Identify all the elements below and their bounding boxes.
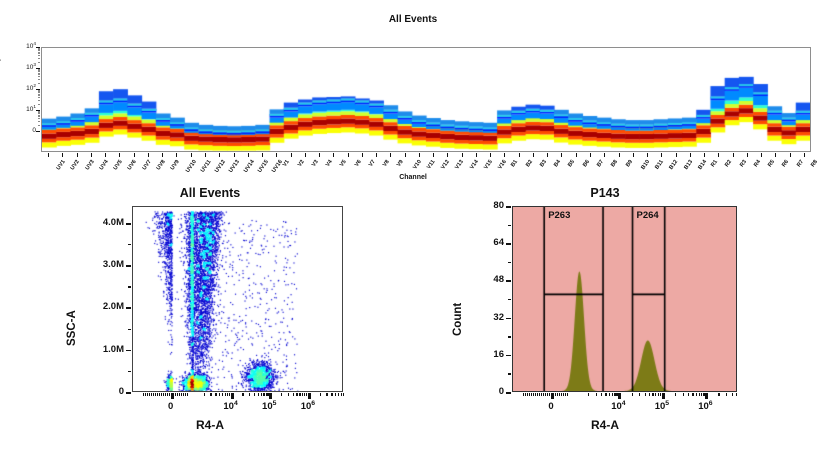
scatter-x-minor-tick	[263, 393, 264, 396]
histogram-y-tick-label: 80	[466, 200, 504, 211]
gate-label-p264[interactable]: P264	[637, 210, 659, 221]
ribbon-y-minor-tick	[38, 91, 40, 92]
ribbon-y-minor-tick	[38, 112, 40, 113]
histogram-x-minor-tick	[645, 393, 646, 396]
scatter-x-tick	[308, 393, 311, 399]
histogram-x-minor-tick	[616, 393, 617, 396]
histogram-x-minor-tick	[649, 393, 650, 396]
histogram-x-minor-tick	[609, 393, 610, 396]
ribbon-channel-label: UV11	[200, 159, 213, 174]
histogram-y-tick-label: 16	[466, 349, 504, 360]
scatter-x-minor-tick	[222, 393, 223, 396]
ribbon-y-minor-tick	[38, 113, 40, 114]
ribbon-y-minor-tick	[38, 115, 40, 116]
ribbon-channel-tick	[490, 153, 491, 157]
ribbon-y-minor-tick	[38, 111, 40, 112]
ribbon-y-minor-tick	[38, 121, 40, 122]
ribbon-density-canvas	[42, 48, 810, 151]
scatter-y-tick	[126, 265, 131, 267]
scatter-plot-title: All Events	[60, 186, 360, 200]
histogram-x-minor-tick	[658, 393, 659, 396]
spectra-ribbon-panel: All Events Intensity 1041031021010 UV1UV…	[0, 14, 826, 180]
scatter-x-minor-tick	[338, 393, 339, 396]
ribbon-channel-label: UV13	[228, 159, 241, 174]
ribbon-channel-tick	[633, 153, 634, 157]
scatter-y-tick-label: 2.0M	[78, 301, 124, 312]
ribbon-channel-tick	[390, 153, 391, 157]
scatter-y-tick	[126, 392, 131, 394]
scatter-points-canvas	[133, 207, 342, 391]
scatter-x-minor-tick	[326, 393, 327, 396]
ribbon-channel-label: B13	[683, 159, 694, 171]
ribbon-channel-label: B2	[525, 159, 534, 168]
ribbon-y-minor-tick	[38, 95, 40, 96]
histogram-x-minor-tick	[639, 393, 640, 396]
histogram-x-tick-label: 106	[685, 401, 725, 412]
ribbon-y-minor-tick	[38, 49, 40, 50]
ribbon-channel-label: V3	[311, 159, 320, 168]
ribbon-channel-tick	[733, 153, 734, 157]
ribbon-channel-tick	[619, 153, 620, 157]
histogram-x-minor-tick	[601, 393, 602, 396]
ribbon-channel-label: UV14	[242, 159, 255, 174]
ribbon-channel-label: B3	[539, 159, 548, 168]
ribbon-channel-tick	[319, 153, 320, 157]
ribbon-plot-area	[41, 47, 811, 152]
ribbon-channel-label: V14	[469, 159, 480, 171]
histogram-trace-canvas	[513, 207, 736, 391]
scatter-x-minor-tick	[242, 393, 243, 396]
histogram-x-minor-tick	[701, 393, 702, 396]
histogram-y-minor-tick	[508, 262, 511, 263]
ribbon-channel-tick	[433, 153, 434, 157]
ribbon-channel-label: V6	[353, 159, 362, 168]
scatter-plot-panel: All Events SSC-A 4.0M3.0M2.0M1.0M0 01041…	[60, 186, 360, 444]
ribbon-y-minor-tick	[38, 70, 40, 71]
ribbon-channel-label: V1	[282, 159, 291, 168]
histogram-y-minor-tick	[508, 299, 511, 300]
scatter-x-minor-tick	[258, 393, 259, 396]
histogram-x-tick-label: 105	[642, 401, 682, 412]
ribbon-channel-label: UV6	[127, 159, 138, 171]
ribbon-channel-tick	[191, 153, 192, 157]
histogram-y-tick	[506, 355, 511, 357]
ribbon-channel-label: V9	[396, 159, 405, 168]
ribbon-y-minor-tick	[38, 48, 40, 49]
ribbon-y-minor-tick	[38, 69, 40, 70]
ribbon-plot-title: All Events	[0, 14, 826, 25]
histogram-x-minor-tick	[655, 393, 656, 396]
scatter-y-tick-label: 3.0M	[78, 259, 124, 270]
histogram-x-tick-label: 104	[598, 401, 638, 412]
scatter-x-minor-tick	[281, 393, 282, 396]
scatter-x-minor-tick	[306, 393, 307, 396]
histogram-y-tick-label: 0	[466, 386, 504, 397]
ribbon-y-tick-label: 104	[8, 43, 36, 50]
ribbon-channel-label: R1	[710, 159, 719, 168]
ribbon-channel-tick	[119, 153, 120, 157]
ribbon-channel-tick	[690, 153, 691, 157]
ribbon-channel-tick	[333, 153, 334, 157]
ribbon-channel-tick	[576, 153, 577, 157]
histogram-x-minor-tick	[605, 393, 606, 396]
scatter-x-minor-tick	[320, 393, 321, 396]
histogram-x-minor-tick	[696, 393, 697, 396]
scatter-x-minor-tick	[302, 393, 303, 396]
ribbon-y-minor-tick	[38, 92, 40, 93]
ribbon-channel-tick	[134, 153, 135, 157]
ribbon-channel-label: UV8	[156, 159, 167, 171]
ribbon-channel-label: UV5	[113, 159, 124, 171]
ribbon-y-minor-tick	[38, 97, 40, 98]
ribbon-y-minor-tick	[38, 116, 40, 117]
ribbon-channel-label: B4	[553, 159, 562, 168]
ribbon-channel-tick	[590, 153, 591, 157]
ribbon-channel-tick	[262, 153, 263, 157]
scatter-y-tick-label: 1.0M	[78, 344, 124, 355]
histogram-x-minor-tick	[732, 393, 733, 396]
scatter-x-minor-tick	[293, 393, 294, 396]
scatter-x-minor-tick	[215, 393, 216, 396]
ribbon-channel-tick	[291, 153, 292, 157]
ribbon-channel-label: B12	[669, 159, 680, 171]
ribbon-channel-label: B10	[640, 159, 651, 171]
histogram-x-minor-tick	[683, 393, 684, 396]
ribbon-y-minor-tick	[38, 53, 40, 54]
scatter-x-minor-tick	[187, 393, 188, 396]
ribbon-channel-tick	[561, 153, 562, 157]
ribbon-channel-label: V13	[455, 159, 466, 171]
ribbon-channel-tick	[519, 153, 520, 157]
ribbon-channel-label: UV4	[99, 159, 110, 171]
ribbon-y-minor-tick	[38, 83, 40, 84]
scatter-y-minor-tick	[128, 329, 131, 330]
ribbon-y-minor-tick	[38, 52, 40, 53]
scatter-y-minor-tick	[128, 286, 131, 287]
ribbon-channel-label: B11	[654, 159, 665, 171]
histogram-x-minor-tick	[596, 393, 597, 396]
ribbon-channel-tick	[761, 153, 762, 157]
scatter-x-tick	[231, 393, 234, 399]
ribbon-y-minor-tick	[38, 71, 40, 72]
ribbon-channel-tick	[348, 153, 349, 157]
histogram-y-tick-label: 32	[466, 312, 504, 323]
scatter-x-minor-tick	[229, 393, 230, 396]
ribbon-y-tick-label: 101	[8, 106, 36, 113]
ribbon-channel-tick	[547, 153, 548, 157]
scatter-x-minor-tick	[254, 393, 255, 396]
histogram-y-tick-label: 64	[466, 237, 504, 248]
ribbon-channel-label: UV7	[141, 159, 152, 171]
histogram-y-axis-label: Count	[452, 303, 464, 336]
histogram-y-tick	[506, 392, 511, 394]
scatter-y-minor-tick	[128, 244, 131, 245]
histogram-x-minor-tick	[703, 393, 704, 396]
ribbon-y-minor-tick	[38, 50, 40, 51]
scatter-x-tick-label: 0	[151, 401, 191, 412]
ribbon-channel-tick	[476, 153, 477, 157]
ribbon-channel-tick	[775, 153, 776, 157]
scatter-x-minor-tick	[341, 393, 342, 396]
scatter-y-axis-label: SSC-A	[66, 310, 78, 346]
scatter-x-minor-tick	[267, 393, 268, 396]
histogram-x-minor-tick	[699, 393, 700, 396]
ribbon-y-axis-label: Intensity	[0, 57, 1, 86]
ribbon-channel-label: V12	[440, 159, 451, 171]
ribbon-channel-label: R5	[767, 159, 776, 168]
ribbon-channel-tick	[462, 153, 463, 157]
histogram-x-minor-tick	[614, 393, 615, 396]
scatter-y-tick-label: 4.0M	[78, 217, 124, 228]
histogram-y-tick	[506, 280, 511, 282]
ribbon-channel-tick	[77, 153, 78, 157]
histogram-panel: P143 Count 80644832160 P263P264 01041051…	[450, 186, 760, 444]
scatter-x-tick-label: 106	[288, 401, 328, 412]
ribbon-channel-tick	[504, 153, 505, 157]
scatter-y-tick-label: 0	[78, 386, 124, 397]
histogram-x-tick	[618, 393, 621, 399]
ribbon-y-minor-tick	[38, 125, 40, 126]
ribbon-y-minor-tick	[38, 58, 40, 59]
ribbon-channel-tick	[704, 153, 705, 157]
ribbon-channel-tick	[305, 153, 306, 157]
ribbon-channel-tick	[276, 153, 277, 157]
ribbon-channel-label: UV12	[214, 159, 227, 174]
scatter-x-minor-tick	[335, 393, 336, 396]
scatter-y-minor-tick	[128, 371, 131, 372]
scatter-x-minor-tick	[249, 393, 250, 396]
histogram-plot-area	[512, 206, 737, 392]
histogram-y-tick	[506, 243, 511, 245]
ribbon-y-tick-label: 102	[8, 85, 36, 92]
ribbon-channel-tick	[176, 153, 177, 157]
scatter-x-minor-tick	[296, 393, 297, 396]
histogram-x-tick-label: 0	[531, 401, 571, 412]
ribbon-y-minor-tick	[38, 76, 40, 77]
histogram-x-minor-tick	[588, 393, 589, 396]
ribbon-channel-tick	[48, 153, 49, 157]
ribbon-channel-tick	[676, 153, 677, 157]
ribbon-channel-label: R3	[739, 159, 748, 168]
ribbon-y-minor-tick	[38, 74, 40, 75]
ribbon-channel-label: UV2	[70, 159, 81, 171]
scatter-x-minor-tick	[261, 393, 262, 396]
histogram-x-minor-tick	[660, 393, 661, 396]
ribbon-channel-label: R8	[810, 159, 819, 168]
scatter-y-tick	[126, 223, 131, 225]
flow-cytometry-figure: All Events Intensity 1041031021010 UV1UV…	[0, 0, 826, 451]
ribbon-channel-tick	[248, 153, 249, 157]
ribbon-y-minor-tick	[38, 90, 40, 91]
histogram-x-minor-tick	[736, 393, 737, 396]
ribbon-channel-label: V10	[412, 159, 423, 171]
ribbon-channel-label: B5	[568, 159, 577, 168]
ribbon-channel-tick	[647, 153, 648, 157]
histogram-x-minor-tick	[688, 393, 689, 396]
ribbon-channel-tick	[790, 153, 791, 157]
histogram-y-tick	[506, 318, 511, 320]
scatter-x-minor-tick	[210, 393, 211, 396]
ribbon-channel-label: R2	[724, 159, 733, 168]
ribbon-channel-label: V15	[483, 159, 494, 171]
scatter-x-minor-tick	[219, 393, 220, 396]
scatter-x-tick-label: 105	[249, 401, 289, 412]
ribbon-channel-tick	[105, 153, 106, 157]
ribbon-channel-tick	[91, 153, 92, 157]
ribbon-channel-tick	[718, 153, 719, 157]
ribbon-channel-tick	[447, 153, 448, 157]
ribbon-channel-label: V4	[325, 159, 334, 168]
histogram-x-tick	[705, 393, 708, 399]
histogram-title: P143	[450, 186, 760, 200]
scatter-x-minor-tick	[331, 393, 332, 396]
ribbon-y-minor-tick	[38, 100, 40, 101]
ribbon-channel-tick	[362, 153, 363, 157]
ribbon-channel-tick	[405, 153, 406, 157]
ribbon-channel-tick	[148, 153, 149, 157]
ribbon-channel-label: UV15	[257, 159, 270, 174]
ribbon-y-minor-tick	[38, 62, 40, 63]
histogram-x-minor-tick	[612, 393, 613, 396]
ribbon-channel-tick	[533, 153, 534, 157]
ribbon-channel-tick	[234, 153, 235, 157]
ribbon-channel-label: V8	[382, 159, 391, 168]
ribbon-channel-label: UV3	[84, 159, 95, 171]
ribbon-channel-label: B1	[510, 159, 519, 168]
ribbon-channel-label: B14	[697, 159, 708, 171]
histogram-x-minor-tick	[718, 393, 719, 396]
histogram-x-axis-label: R4-A	[450, 418, 760, 432]
scatter-x-axis-label: R4-A	[60, 418, 360, 432]
ribbon-channel-label: R4	[753, 159, 762, 168]
ribbon-channel-tick	[205, 153, 206, 157]
scatter-plot-area	[132, 206, 343, 392]
ribbon-channel-tick	[219, 153, 220, 157]
ribbon-y-minor-tick	[38, 104, 40, 105]
scatter-y-tick	[126, 307, 131, 309]
ribbon-channel-label: V7	[368, 159, 377, 168]
histogram-x-minor-tick	[692, 393, 693, 396]
histogram-x-minor-tick	[726, 393, 727, 396]
ribbon-y-tick	[36, 131, 40, 132]
histogram-x-minor-tick	[567, 393, 568, 396]
ribbon-channel-label: UV1	[56, 159, 67, 171]
histogram-y-minor-tick	[508, 225, 511, 226]
histogram-y-minor-tick	[508, 373, 511, 374]
ribbon-channel-tick	[747, 153, 748, 157]
ribbon-channel-label: R7	[796, 159, 805, 168]
ribbon-y-tick-label: 0	[8, 127, 36, 134]
ribbon-channel-label: UV16	[271, 159, 284, 174]
ribbon-channel-tick	[419, 153, 420, 157]
scatter-x-minor-tick	[204, 393, 205, 396]
ribbon-channel-label: B9	[625, 159, 634, 168]
ribbon-channel-label: V16	[497, 159, 508, 171]
ribbon-channel-label: V11	[426, 159, 436, 170]
ribbon-channel-tick	[162, 153, 163, 157]
ribbon-x-axis-label: Channel	[0, 174, 826, 181]
scatter-x-minor-tick	[299, 393, 300, 396]
ribbon-channel-tick	[376, 153, 377, 157]
ribbon-y-minor-tick	[38, 73, 40, 74]
ribbon-channel-label: UV9	[170, 159, 181, 171]
ribbon-channel-tick	[604, 153, 605, 157]
histogram-x-minor-tick	[675, 393, 676, 396]
histogram-y-tick-label: 48	[466, 274, 504, 285]
ribbon-channel-label: V5	[339, 159, 348, 168]
ribbon-channel-label: B8	[610, 159, 619, 168]
ribbon-channel-label: B7	[596, 159, 605, 168]
ribbon-channel-label: UV10	[185, 159, 198, 174]
scatter-x-minor-tick	[288, 393, 289, 396]
histogram-y-minor-tick	[508, 336, 511, 337]
ribbon-channel-tick	[661, 153, 662, 157]
ribbon-y-tick-label: 103	[8, 64, 36, 71]
ribbon-y-minor-tick	[38, 79, 40, 80]
ribbon-y-minor-tick	[38, 118, 40, 119]
histogram-x-minor-tick	[632, 393, 633, 396]
ribbon-channel-tick	[804, 153, 805, 157]
scatter-x-tick	[269, 393, 272, 399]
histogram-y-tick	[506, 206, 511, 208]
scatter-x-tick-label: 104	[211, 401, 251, 412]
ribbon-y-minor-tick	[38, 94, 40, 95]
scatter-y-tick	[126, 350, 131, 352]
ribbon-channel-label: B6	[582, 159, 591, 168]
histogram-x-tick	[662, 393, 665, 399]
ribbon-channel-label: R6	[781, 159, 790, 168]
histogram-x-minor-tick	[652, 393, 653, 396]
ribbon-y-minor-tick	[38, 55, 40, 56]
scatter-x-minor-tick	[343, 393, 344, 396]
scatter-x-minor-tick	[225, 393, 226, 396]
ribbon-channel-label: V2	[296, 159, 305, 168]
ribbon-channel-tick	[62, 153, 63, 157]
gate-label-p263[interactable]: P263	[548, 210, 570, 221]
